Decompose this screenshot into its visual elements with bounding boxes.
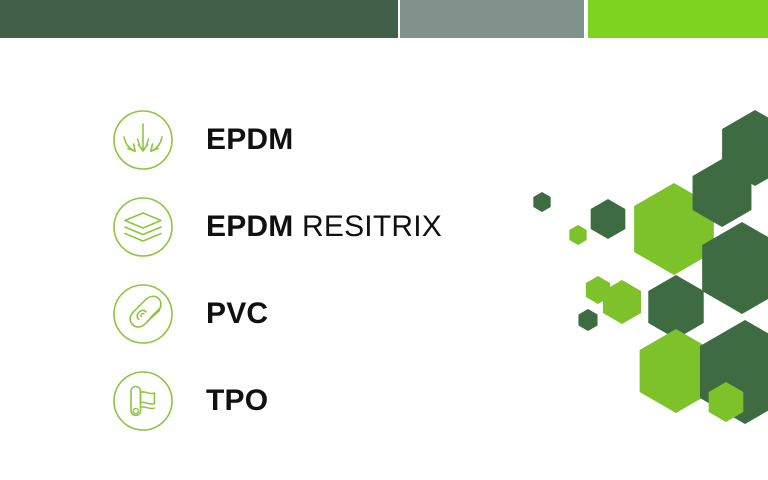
layers-stack-icon bbox=[112, 196, 174, 258]
topbar-segment-gray bbox=[400, 0, 584, 38]
product-row-epdm-resitrix[interactable]: EPDM RESITRIX bbox=[112, 183, 542, 270]
topbar-segment-dark-green bbox=[0, 0, 398, 38]
product-label-bold-part: EPDM bbox=[206, 210, 293, 243]
product-label-pvc: PVC bbox=[206, 299, 268, 329]
membrane-roll-icon bbox=[112, 283, 174, 345]
hexagon-10 bbox=[702, 222, 768, 314]
product-label-epdm: EPDM bbox=[206, 125, 293, 155]
product-row-epdm[interactable]: EPDM bbox=[112, 96, 542, 183]
product-label-bold-part: TPO bbox=[206, 384, 268, 417]
hexagon-7 bbox=[693, 159, 752, 227]
top-color-bar bbox=[0, 0, 768, 38]
hexagon-8 bbox=[722, 110, 768, 186]
product-row-pvc[interactable]: PVC bbox=[112, 270, 542, 357]
hexagon-2 bbox=[591, 199, 626, 239]
hexagon-1 bbox=[569, 225, 586, 245]
hexagon-13 bbox=[709, 382, 744, 422]
product-list: EPDM EPDM RESITRIX bbox=[112, 96, 542, 444]
topbar-segment-bright-green bbox=[588, 0, 768, 38]
slide-canvas: EPDM EPDM RESITRIX bbox=[0, 0, 768, 480]
hexagon-11 bbox=[640, 329, 713, 413]
unrolling-sheet-icon bbox=[112, 370, 174, 432]
product-label-bold-part: EPDM bbox=[206, 123, 293, 156]
converging-arrows-icon bbox=[112, 109, 174, 171]
hexagon-3 bbox=[578, 309, 597, 331]
product-row-tpo[interactable]: TPO bbox=[112, 357, 542, 444]
hexagon-5 bbox=[603, 280, 641, 324]
product-label-regular-part: RESITRIX bbox=[293, 210, 442, 243]
hexagon-4 bbox=[586, 276, 610, 304]
product-label-tpo: TPO bbox=[206, 386, 268, 416]
product-label-bold-part: PVC bbox=[206, 297, 268, 330]
product-label-epdm-resitrix: EPDM RESITRIX bbox=[206, 212, 442, 242]
hexagon-6 bbox=[634, 183, 714, 275]
hexagon-12 bbox=[700, 320, 768, 424]
hexagon-9 bbox=[648, 275, 703, 339]
